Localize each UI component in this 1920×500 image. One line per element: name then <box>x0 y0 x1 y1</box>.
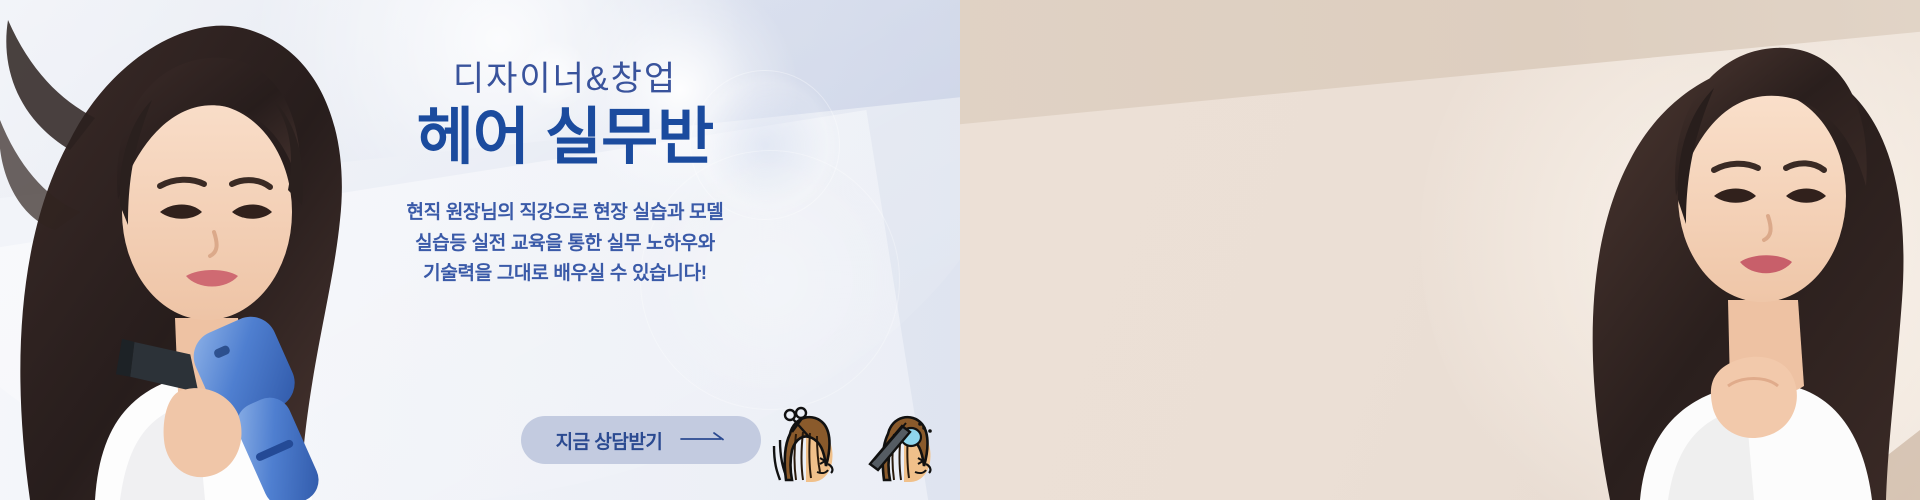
left-body-line-2: 실습등 실전 교육을 통한 실무 노하우와 <box>330 229 800 260</box>
left-body-line-1: 현직 원장님의 직강으로 현장 실습과 모델 <box>330 198 800 229</box>
promo-banner: 디자이너&창업 헤어 실무반 현직 원장님의 직강으로 현장 실습과 모델 실습… <box>0 0 1920 500</box>
head-with-flat-iron-icon <box>862 404 946 493</box>
left-headline-text: 헤어 실무반 <box>330 103 800 172</box>
left-eyebrow-text: 디자이너&창업 <box>330 58 800 101</box>
left-body-copy: 현직 원장님의 직강으로 현장 실습과 모델 실습등 실전 교육을 통한 실무 … <box>330 198 800 290</box>
head-with-scissors-icon <box>770 404 848 493</box>
left-copy-block: 디자이너&창업 헤어 실무반 현직 원장님의 직강으로 현장 실습과 모델 실습… <box>330 58 800 290</box>
arrow-right-icon <box>680 431 726 449</box>
left-icon-row <box>770 404 946 493</box>
left-cta-label: 지금 상담받기 <box>556 427 663 454</box>
left-cta-button[interactable]: 지금 상담받기 <box>521 416 761 464</box>
left-promo-panel[interactable]: 디자이너&창업 헤어 실무반 현직 원장님의 직강으로 현장 실습과 모델 실습… <box>0 0 960 500</box>
right-promo-panel[interactable]: 핫 한 트렌디 과정 붙임머리 과정 붙임머리 과정을 짧은 기간으로 마스터!… <box>960 0 1920 500</box>
right-model-image <box>1490 0 1920 500</box>
left-body-line-3: 기술력을 그대로 배우실 수 있습니다! <box>330 259 800 290</box>
